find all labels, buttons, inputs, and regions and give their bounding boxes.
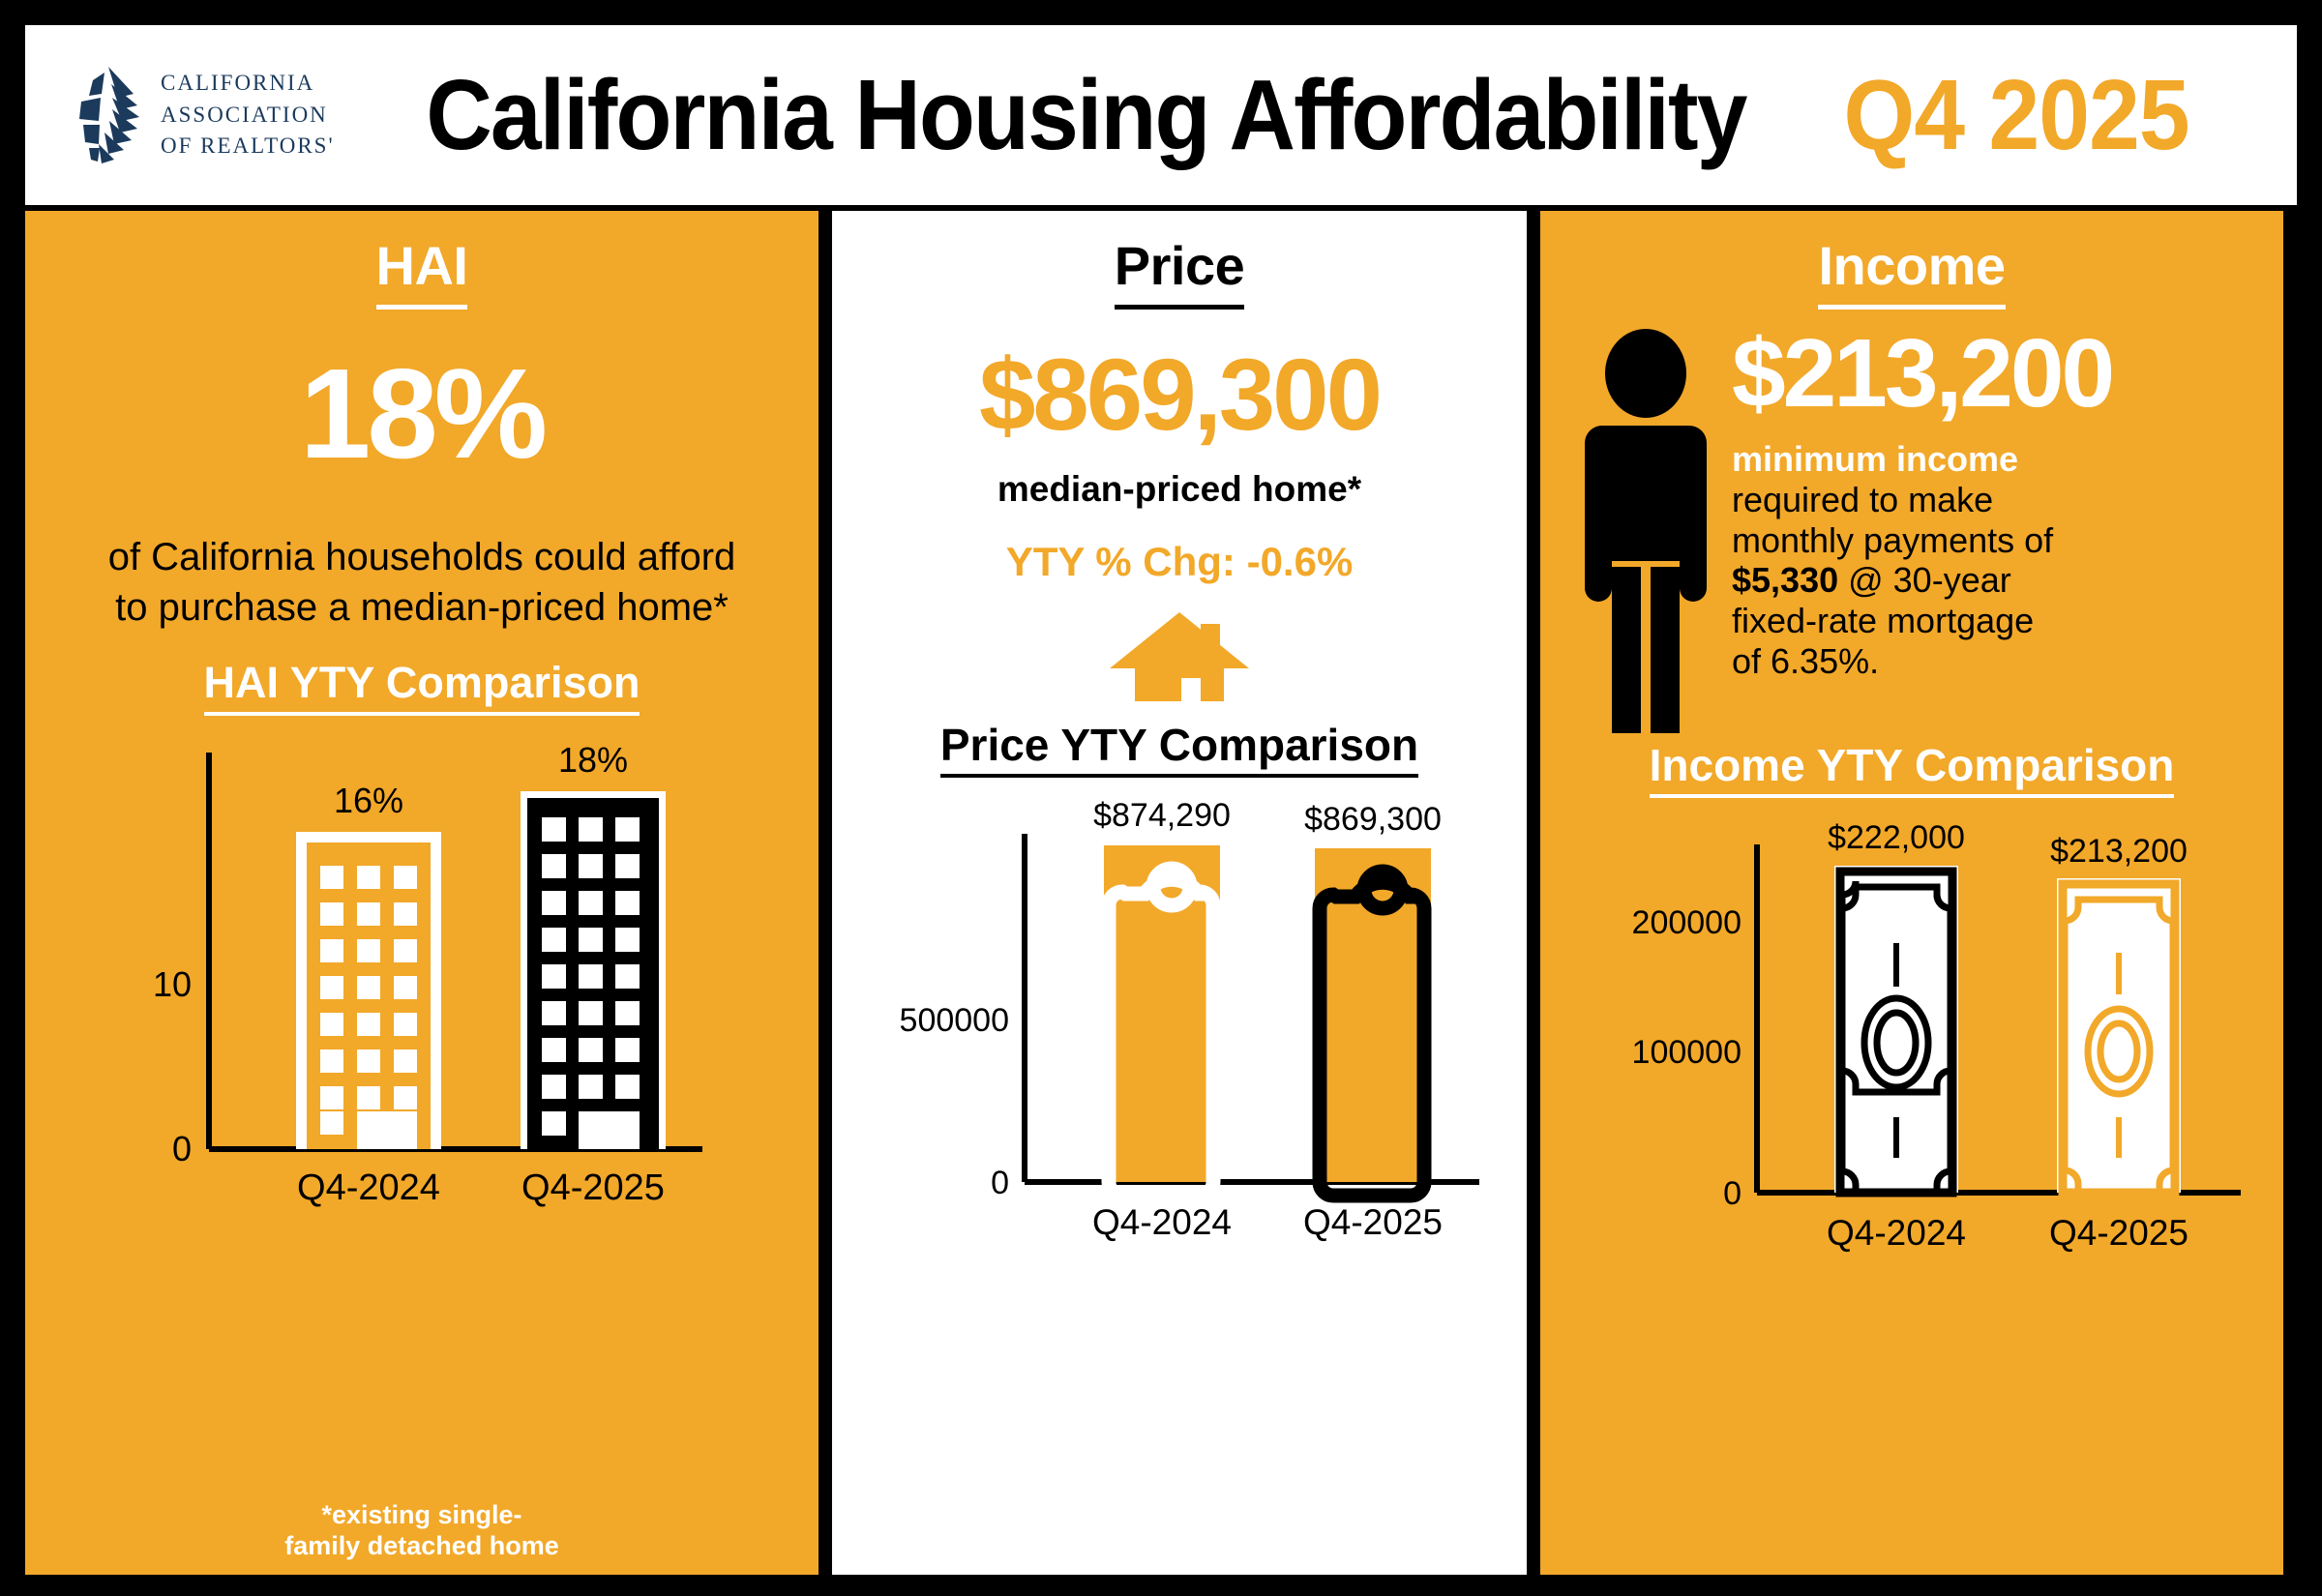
price-bar-label-2024: $874,290 <box>1093 797 1231 834</box>
house-icon <box>1108 610 1251 703</box>
price-ytick-0: 0 <box>991 1165 1009 1201</box>
income-desc-line-1: minimum income <box>1732 439 2018 479</box>
income-big-value: $213,200 <box>1732 325 2254 422</box>
hai-bar-label-2024: 16% <box>334 781 403 820</box>
price-xtick-2025: Q4-2025 <box>1303 1202 1443 1242</box>
car-logo-mark <box>70 65 145 165</box>
price-heading-text: Price <box>1115 234 1245 310</box>
income-chart-title-text: Income YTY Comparison <box>1650 739 2175 798</box>
panel-divider-2 <box>1527 211 1540 1575</box>
income-text-col: $213,200 minimum income required to make… <box>1732 315 2254 682</box>
income-hero-row: $213,200 minimum income required to make… <box>1540 310 2283 735</box>
hai-ytick-10: 10 <box>153 964 192 1004</box>
income-description: minimum income required to make monthly … <box>1732 439 2254 682</box>
hai-footnote-line-1: *existing single- <box>25 1500 819 1530</box>
income-desc-line-6: of 6.35%. <box>1732 641 1879 681</box>
hai-bar-2025: 18% <box>521 740 666 1149</box>
income-bar-2024: $222,000 <box>1828 819 1965 1193</box>
panel-hai: HAI 18% of California households could a… <box>25 211 819 1575</box>
header-bar: CALIFORNIA ASSOCIATION OF REALTORS' Cali… <box>25 25 2297 205</box>
price-xtick-2024: Q4-2024 <box>1092 1202 1232 1242</box>
hai-heading-text: HAI <box>376 234 468 310</box>
price-heading: Price <box>832 211 1527 310</box>
price-big-value: $869,300 <box>832 344 1527 446</box>
price-bar-2025: $869,300 <box>1304 801 1442 1196</box>
income-xtick-2024: Q4-2024 <box>1827 1213 1966 1253</box>
hai-description: of California households could afford to… <box>25 532 819 633</box>
price-chart-title-text: Price YTY Comparison <box>940 719 1418 778</box>
hai-chart-title: HAI YTY Comparison <box>25 658 819 716</box>
price-yty-change: YTY % Chg: -0.6% <box>832 539 1527 585</box>
price-bar-label-2025: $869,300 <box>1304 801 1442 838</box>
income-desc-line-3: monthly payments of <box>1732 520 2053 560</box>
title-text: California Housing Affordability <box>427 58 1746 172</box>
income-bar-label-2025: $213,200 <box>2050 833 2188 870</box>
hai-xtick-2024: Q4-2024 <box>297 1167 440 1208</box>
income-xtick-2025: Q4-2025 <box>2049 1213 2188 1253</box>
income-heading-text: Income <box>1818 234 2005 310</box>
income-bar-2025: $213,200 <box>2050 833 2188 1193</box>
panel-income: Income $213,200 minimum in <box>1540 211 2283 1575</box>
hai-bar-label-2025: 18% <box>558 740 628 780</box>
hai-big-value: 18% <box>25 350 819 478</box>
price-chart: 500000 0 $874,290 $869,300 Q4- <box>850 778 1508 1261</box>
income-desc-line-4: @ 30-year <box>1838 560 2011 600</box>
hai-ytick-0: 0 <box>172 1129 192 1168</box>
person-icon <box>1573 329 1718 735</box>
hai-chart: 10 0 <box>83 716 760 1257</box>
car-logo: CALIFORNIA ASSOCIATION OF REALTORS' <box>70 65 335 165</box>
hai-heading: HAI <box>25 211 819 310</box>
price-bar-2024: $874,290 <box>1093 797 1231 1196</box>
income-ytick-0: 0 <box>1723 1175 1741 1212</box>
income-chart-title: Income YTY Comparison <box>1540 739 2283 798</box>
price-subtitle: median-priced home* <box>832 469 1527 510</box>
infographic-poster: CALIFORNIA ASSOCIATION OF REALTORS' Cali… <box>0 0 2322 1596</box>
hai-bar-2024: 16% <box>296 781 441 1149</box>
panel-divider-1 <box>819 211 832 1575</box>
income-ytick-200000: 200000 <box>1632 904 1741 941</box>
panel-price: Price $869,300 median-priced home* YTY %… <box>832 211 1527 1575</box>
hai-footnote: *existing single- family detached home <box>25 1500 819 1561</box>
hai-footnote-line-2: family detached home <box>25 1531 819 1561</box>
panel-container: HAI 18% of California households could a… <box>25 211 2297 1575</box>
income-desc-amount: $5,330 <box>1732 560 1838 600</box>
price-chart-title: Price YTY Comparison <box>832 719 1527 778</box>
title-quarter: Q4 2025 <box>1844 58 2189 172</box>
income-desc-line-2: required to make <box>1732 480 1993 519</box>
income-ytick-100000: 100000 <box>1632 1034 1741 1071</box>
hai-chart-title-text: HAI YTY Comparison <box>204 658 640 716</box>
page-title: California Housing Affordability Q4 2025 <box>306 58 2268 172</box>
income-chart: 200000 100000 0 $222,000 <box>1554 798 2270 1282</box>
price-ytick-500000: 500000 <box>900 1002 1009 1039</box>
hai-xtick-2025: Q4-2025 <box>521 1167 665 1208</box>
income-desc-line-5: fixed-rate mortgage <box>1732 601 2034 640</box>
income-heading: Income <box>1540 211 2283 310</box>
income-bar-label-2024: $222,000 <box>1828 819 1965 856</box>
